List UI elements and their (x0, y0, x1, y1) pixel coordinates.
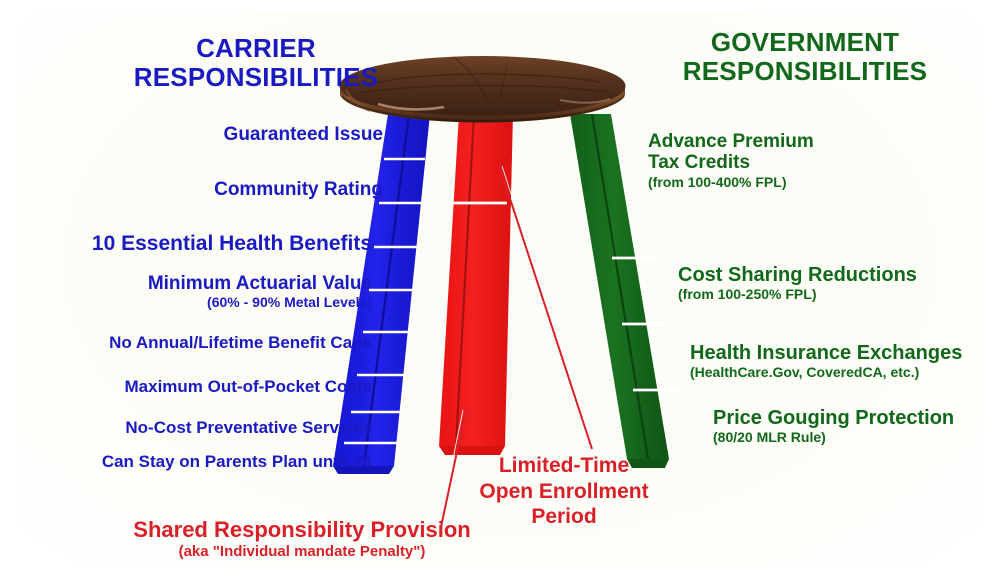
carrier-responsibilities-heading: CARRIER RESPONSIBILITIES (112, 34, 400, 92)
carrier-item-guaranteed-issue: Guaranteed Issue (60, 124, 383, 145)
government-item-cost-sharing-reductions: Cost Sharing Reductions (from 100-250% F… (678, 264, 990, 303)
government-item-sublabel: (from 100-250% FPL) (678, 287, 990, 303)
carrier-item-label: Can Stay on Parents Plan until 26 (22, 452, 372, 471)
individual-item-shared-responsibility-provision: Shared Responsibility Provision (aka "In… (128, 518, 476, 560)
carrier-item-label: Guaranteed Issue (60, 124, 383, 145)
individual-leg (439, 114, 513, 455)
government-item-label: Advance Premium Tax Credits (648, 131, 978, 174)
carrier-item-parents-plan-until-26: Can Stay on Parents Plan until 26 (22, 452, 372, 471)
government-item-health-insurance-exchanges: Health Insurance Exchanges (HealthCare.G… (690, 342, 998, 381)
infographic-canvas: CARRIER RESPONSIBILITIES GOVERNMENT RESP… (0, 0, 1000, 579)
individual-item-label: Limited-Time Open Enrollment Period (474, 453, 654, 530)
government-item-label: Price Gouging Protection (713, 407, 997, 429)
carrier-item-label: No-Cost Preventative Services (40, 418, 372, 437)
government-item-price-gouging-protection: Price Gouging Protection (80/20 MLR Rule… (713, 407, 997, 446)
carrier-item-minimum-actuarial-value: Minimum Actuarial Value (60% - 90% Metal… (40, 273, 372, 311)
carrier-item-label: No Annual/Lifetime Benefit Caps (40, 333, 372, 352)
carrier-item-max-out-of-pocket: Maximum Out-of-Pocket Costs (40, 377, 372, 396)
carrier-item-label: Maximum Out-of-Pocket Costs (40, 377, 372, 396)
carrier-item-label: Community Rating (60, 179, 383, 200)
carrier-item-sublabel: (60% - 90% Metal Levels) (40, 295, 372, 311)
carrier-item-label: Minimum Actuarial Value (40, 273, 372, 294)
government-item-sublabel: (80/20 MLR Rule) (713, 430, 997, 446)
government-responsibilities-heading: GOVERNMENT RESPONSIBILITIES (640, 28, 970, 86)
government-item-sublabel: (HealthCare.Gov, CoveredCA, etc.) (690, 365, 998, 381)
government-item-advance-premium-tax-credits: Advance Premium Tax Credits (from 100-40… (648, 131, 978, 190)
individual-item-sublabel: (aka "Individual mandate Penalty") (128, 544, 476, 561)
carrier-item-no-benefit-caps: No Annual/Lifetime Benefit Caps (40, 333, 372, 352)
government-item-label: Cost Sharing Reductions (678, 264, 990, 286)
government-item-sublabel: (from 100-400% FPL) (648, 175, 978, 191)
individual-item-label: Shared Responsibility Provision (128, 518, 476, 543)
carrier-item-label: 10 Essential Health Benefits (40, 232, 372, 256)
carrier-item-essential-health-benefits: 10 Essential Health Benefits (40, 232, 372, 256)
individual-item-open-enrollment-period: Limited-Time Open Enrollment Period (474, 453, 654, 530)
leader-line-open-enrollment (499, 165, 592, 449)
carrier-item-preventative-services: No-Cost Preventative Services (40, 418, 372, 437)
government-item-label: Health Insurance Exchanges (690, 342, 998, 364)
carrier-item-community-rating: Community Rating (60, 179, 383, 200)
